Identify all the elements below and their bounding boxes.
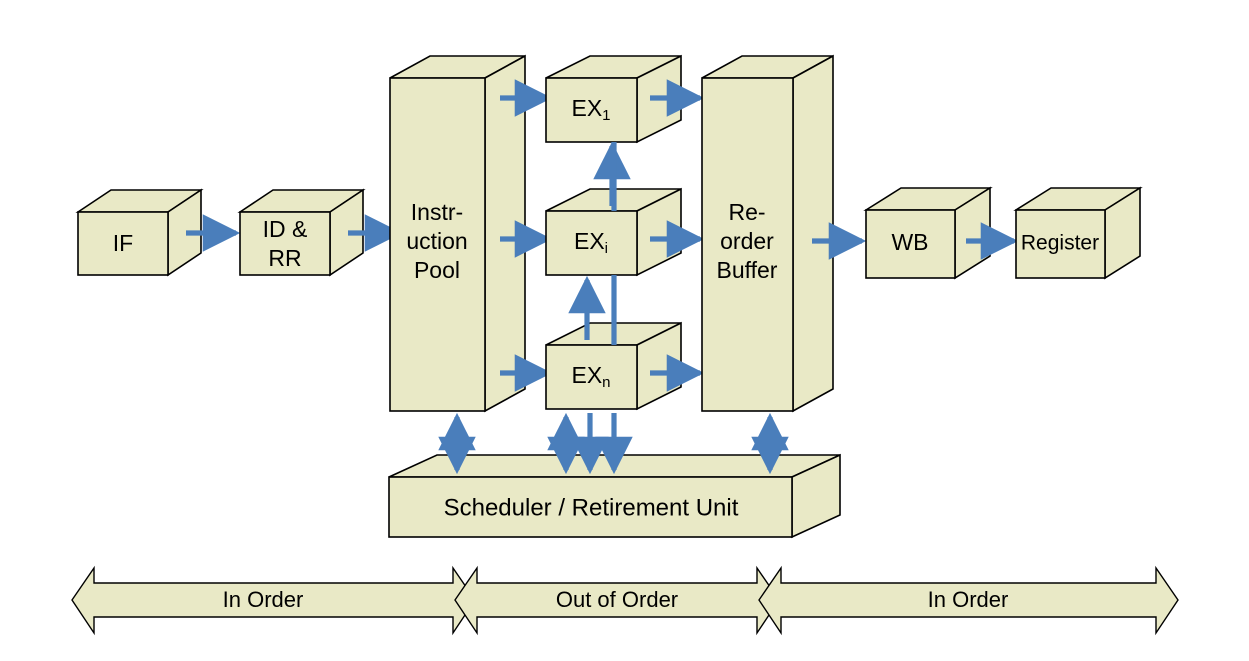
band-out-of-order-label: Out of Order	[556, 587, 678, 612]
box-id-rr-label-line2: RR	[268, 245, 301, 271]
box-reorder-buffer-label-line2: order	[720, 228, 774, 254]
box-instruction-pool-label-line1: Instr-	[411, 199, 463, 225]
box-ex1-subscript: 1	[602, 107, 610, 124]
band-in-order-back: In Order	[759, 568, 1178, 633]
box-exi-subscript: i	[605, 240, 608, 257]
box-reorder-buffer-side	[793, 56, 833, 411]
diagram-canvas: IF ID & RR Instr- uction Pool	[0, 0, 1249, 661]
box-exi-label: EXi	[574, 228, 608, 257]
box-id-rr-label-line1: ID &	[263, 216, 308, 242]
band-out-of-order: Out of Order	[455, 568, 779, 633]
box-wb-label: WB	[891, 229, 928, 255]
pipeline-diagram: IF ID & RR Instr- uction Pool	[0, 0, 1249, 661]
box-instruction-pool-label-line2: uction	[406, 228, 467, 254]
band-in-order-back-label: In Order	[928, 587, 1009, 612]
box-register-label: Register	[1021, 232, 1099, 255]
box-register: Register	[1016, 188, 1140, 278]
box-instruction-pool-label-line3: Pool	[414, 257, 460, 283]
box-exn-base: EX	[571, 362, 602, 388]
box-scheduler-label: Scheduler / Retirement Unit	[444, 494, 739, 521]
box-id-rr: ID & RR	[240, 190, 363, 275]
box-exn-subscript: n	[602, 374, 610, 391]
box-reorder-buffer-label-line3: Buffer	[717, 257, 778, 283]
box-if-label: IF	[113, 230, 133, 256]
box-reorder-buffer-label-line1: Re-	[728, 199, 765, 225]
box-reorder-buffer: Re- order Buffer	[702, 56, 833, 411]
box-if: IF	[78, 190, 201, 275]
box-wb: WB	[866, 188, 990, 278]
box-instruction-pool-side	[485, 56, 525, 411]
box-exi-base: EX	[574, 228, 605, 254]
band-in-order-front-label: In Order	[223, 587, 304, 612]
box-instruction-pool: Instr- uction Pool	[390, 56, 525, 411]
band-in-order-front: In Order	[72, 568, 475, 633]
box-ex1-base: EX	[571, 95, 602, 121]
